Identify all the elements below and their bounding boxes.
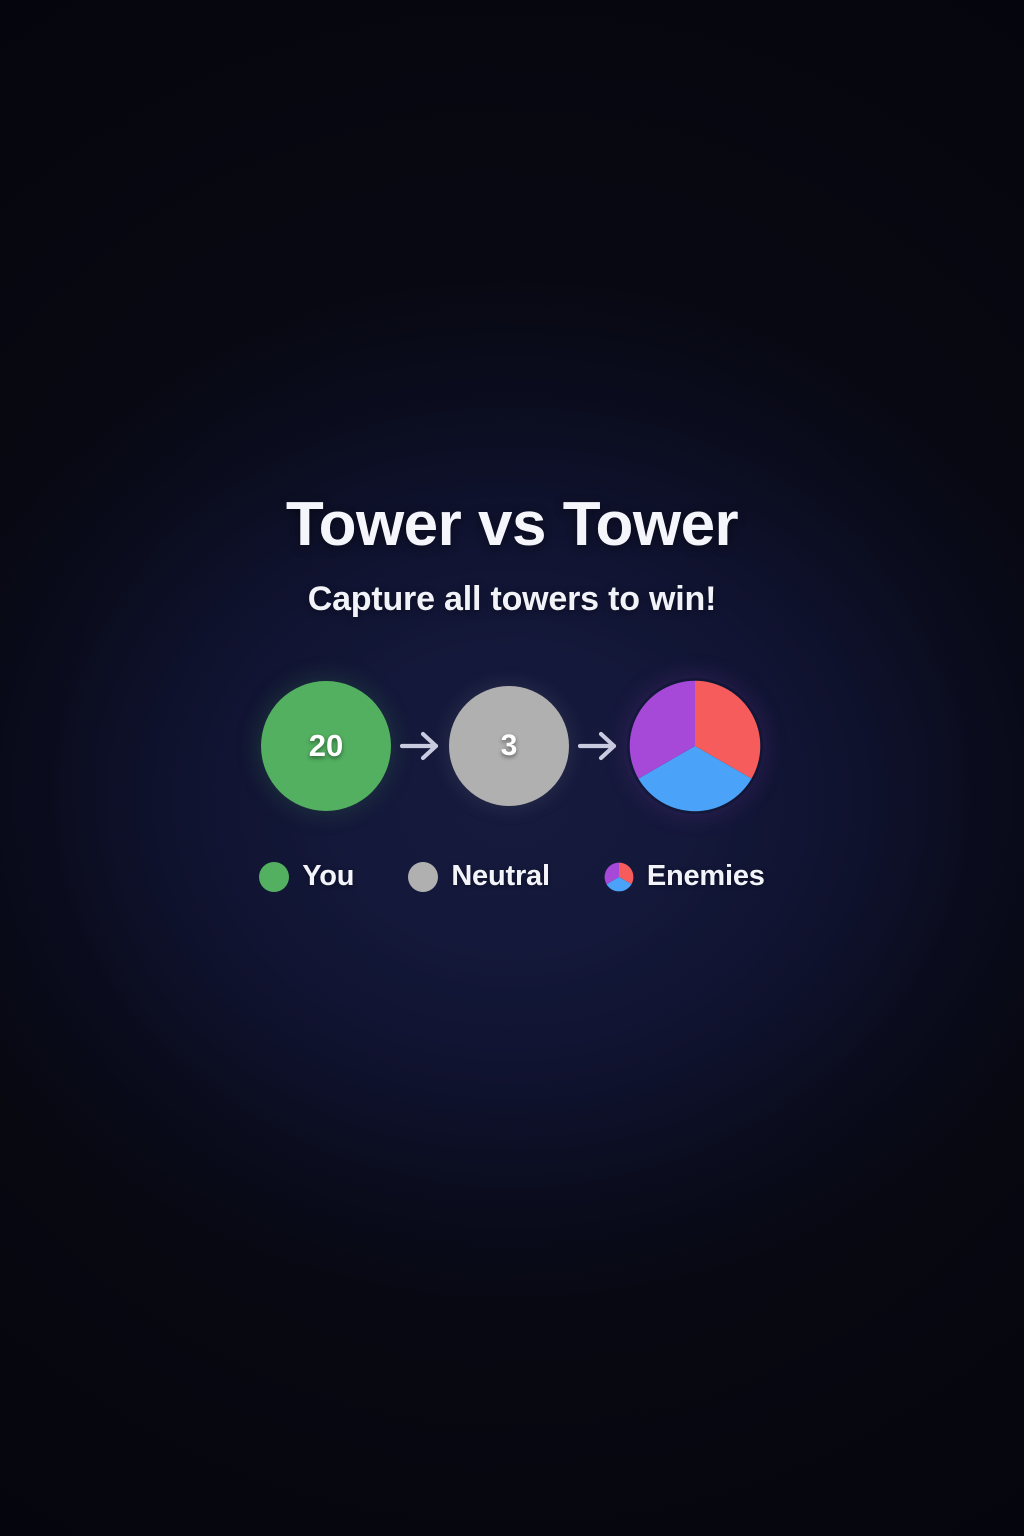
tower-count-you: 20 xyxy=(309,728,343,764)
game-intro-screen: Tower vs Tower Capture all towers to win… xyxy=(0,0,1024,1536)
tower-count-neutral: 3 xyxy=(501,729,518,763)
legend-swatch-enemies-pie-icon xyxy=(604,862,634,892)
page-subtitle: Capture all towers to win! xyxy=(308,582,717,616)
tower-node-enemies-pie xyxy=(627,678,763,814)
tower-node-you: 20 xyxy=(261,681,391,811)
legend-label-neutral: Neutral xyxy=(451,860,550,893)
arrow-right-icon xyxy=(391,727,449,765)
legend-swatch-neutral-icon xyxy=(408,862,438,892)
legend: You Neutral Enemies xyxy=(259,860,764,893)
intro-content: Tower vs Tower Capture all towers to win… xyxy=(0,0,1024,1536)
arrow-right-icon-2 xyxy=(569,727,627,765)
legend-label-enemies: Enemies xyxy=(647,860,765,893)
page-title: Tower vs Tower xyxy=(286,494,738,556)
tower-flow-diagram: 20 3 xyxy=(261,678,763,814)
legend-item-enemies: Enemies xyxy=(604,860,765,893)
legend-label-you: You xyxy=(302,860,354,893)
tower-node-neutral: 3 xyxy=(449,686,569,806)
legend-swatch-you-icon xyxy=(259,862,289,892)
legend-item-neutral: Neutral xyxy=(408,860,550,893)
legend-item-you: You xyxy=(259,860,354,893)
